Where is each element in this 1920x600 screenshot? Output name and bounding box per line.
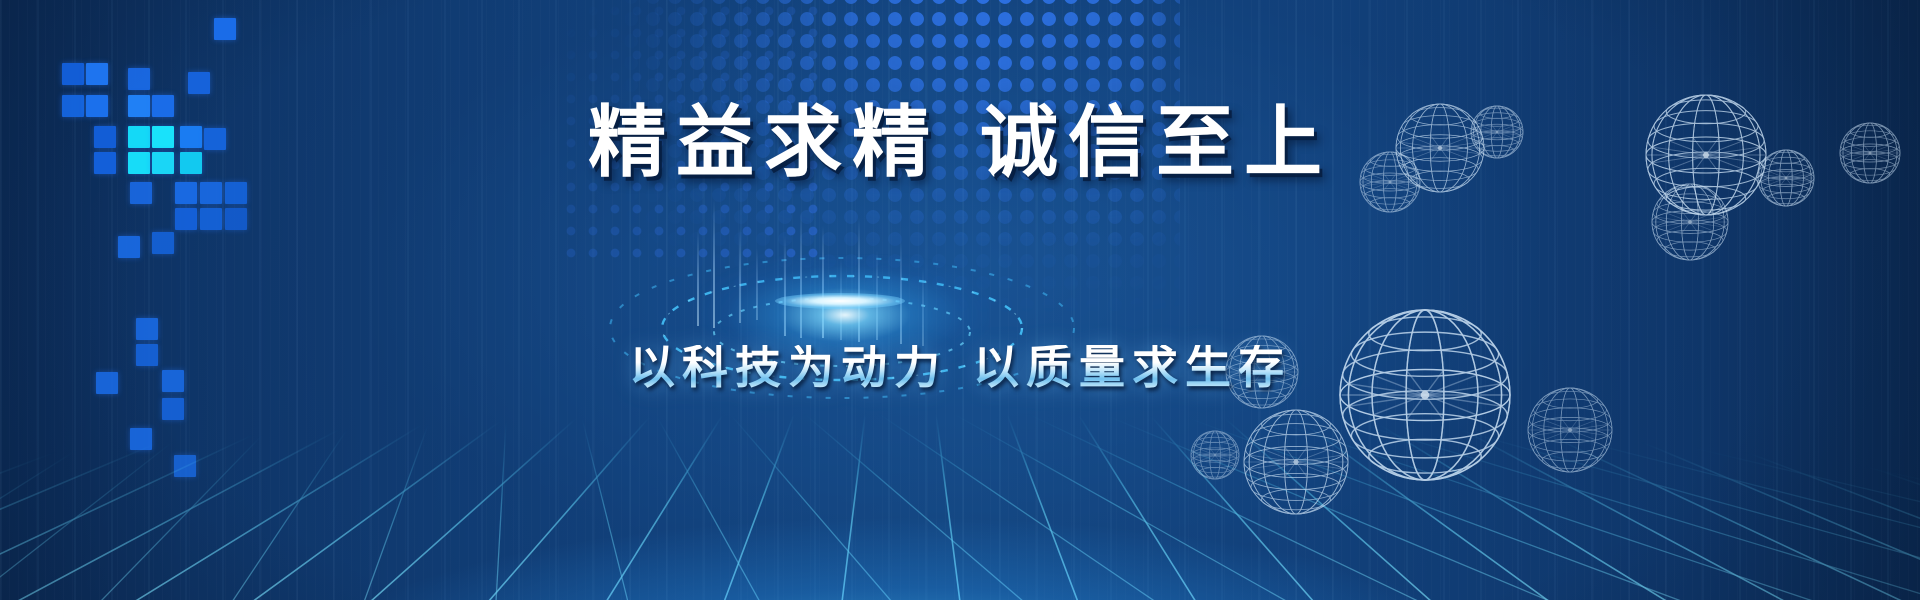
- headline-part-1: 精益求精: [588, 99, 940, 186]
- page-subtitle: 以科技为动力以质量求生存: [0, 345, 1920, 391]
- wireframe-globe: [1340, 310, 1510, 480]
- wireframe-globe: [1528, 388, 1612, 472]
- subline-part-2: 以质量求生存: [973, 342, 1291, 393]
- wireframe-globe: [1652, 184, 1728, 260]
- hero-banner: 精益求精诚信至上 以科技为动力以质量求生存: [0, 0, 1920, 600]
- wireframe-globes-group: [0, 0, 1920, 600]
- wireframe-globe: [1244, 410, 1348, 514]
- wireframe-globe: [1191, 431, 1239, 479]
- subline-part-1: 以科技为动力: [629, 342, 947, 393]
- headline-part-2: 诚信至上: [980, 99, 1332, 186]
- page-title: 精益求精诚信至上: [0, 104, 1920, 182]
